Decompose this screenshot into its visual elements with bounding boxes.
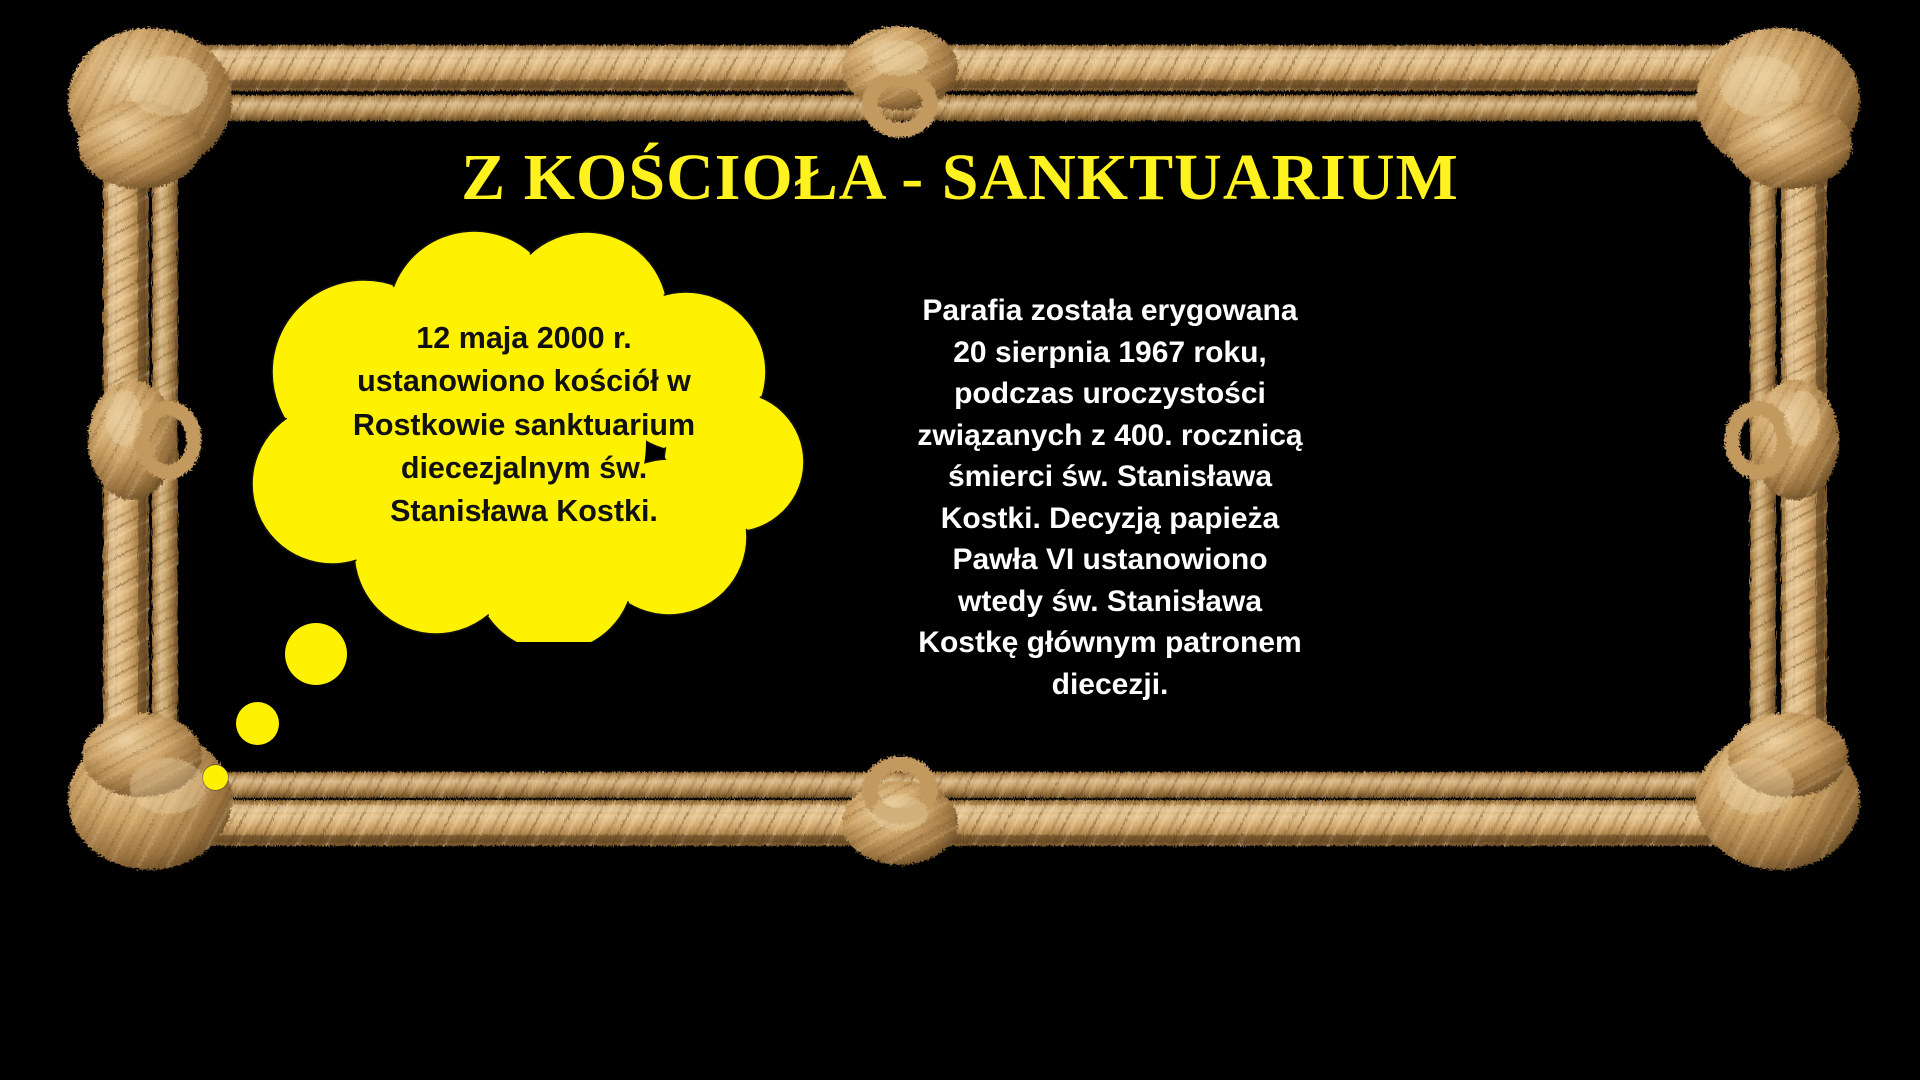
thought-bubble-line: Stanisława Kostki. [324,490,724,533]
rope-knot-top-right [1696,28,1860,189]
body-paragraph-line: 20 sierpnia 1967 roku, [860,332,1360,374]
thought-dot-medium [236,702,279,745]
rope-knot-right-center [1732,380,1839,500]
thought-bubble-text: 12 maja 2000 r. ustanowiono kościół w Ro… [324,317,724,533]
body-paragraph-line: diecezji. [860,664,1360,706]
rope-segment-bottom [95,800,1835,846]
thought-bubble-line: Rostkowie sanktuarium [324,404,724,447]
thought-bubble: 12 maja 2000 r. ustanowiono kościół w Ro… [214,222,814,642]
rope-knot-bottom-center [842,764,958,865]
body-paragraph-line: śmierci św. Stanisława [860,456,1360,498]
rope-segment-top [95,45,1835,91]
thought-bubble-line: diecezjalnym św. [324,447,724,490]
thought-bubble-line: 12 maja 2000 r. [324,317,724,360]
body-paragraph-line: wtedy św. Stanisława [860,581,1360,623]
thought-dot-small [203,765,228,790]
slide-canvas: Z KOŚCIOŁA - SANKTUARIUM [0,0,1920,1080]
body-paragraph-line: podczas uroczystości [860,373,1360,415]
page-title: Z KOŚCIOŁA - SANKTUARIUM [240,143,1680,212]
body-paragraph-line: związanych z 400. rocznicą [860,415,1360,457]
rope-knot-bottom-right [1696,713,1860,870]
body-paragraph-line: Pawła VI ustanowiono [860,539,1360,581]
thought-dot-large [285,623,347,685]
rope-knot-top-center [842,26,958,130]
rope-knot-top-left [68,28,232,189]
body-paragraph-line: Kostkę głównym patronem [860,622,1360,664]
rope-knot-left-center [88,380,194,500]
rope-segment-right [1781,60,1827,850]
rope-knot-bottom-left [68,713,232,870]
body-paragraph: Parafia została erygowana 20 sierpnia 19… [860,290,1360,705]
thought-bubble-line: ustanowiono kościół w [324,360,724,403]
body-paragraph-line: Kostki. Decyzją papieża [860,498,1360,540]
body-paragraph-line: Parafia została erygowana [860,290,1360,332]
rope-segment-left [103,60,149,850]
